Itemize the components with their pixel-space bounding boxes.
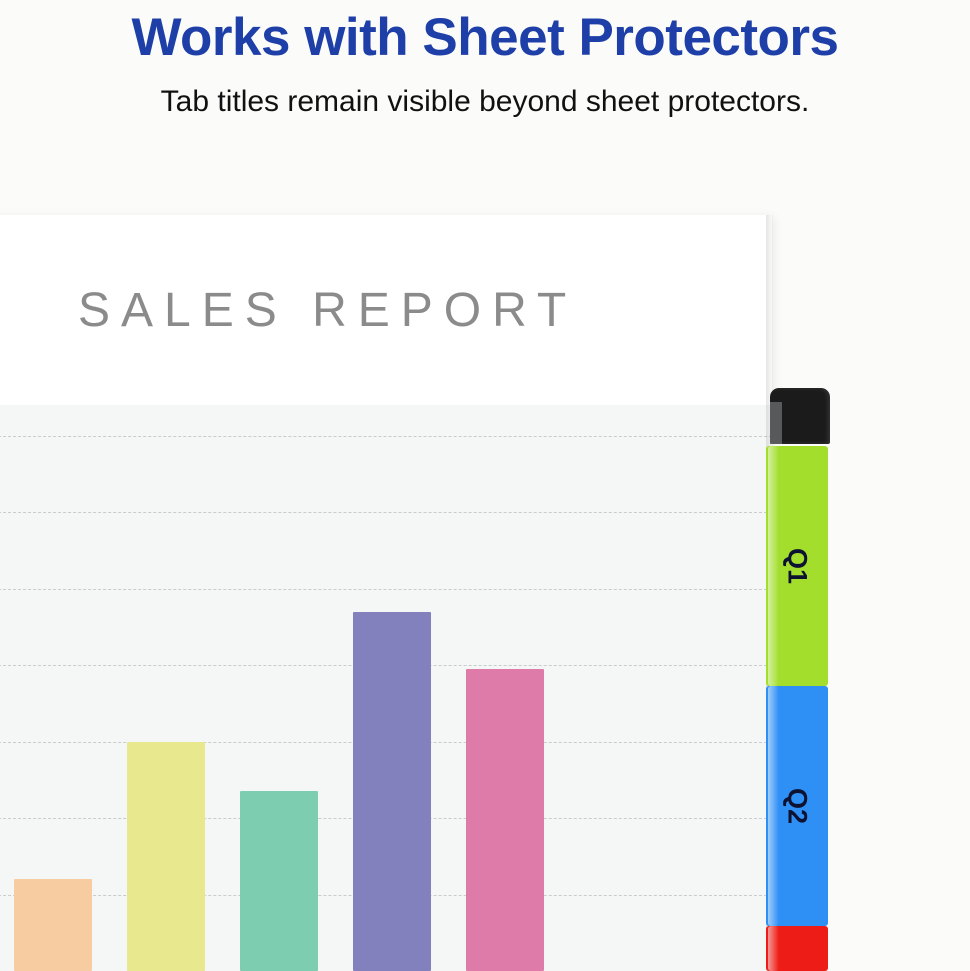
- chart-bar: [353, 612, 431, 971]
- chart-bar: [466, 669, 544, 971]
- tab-label: Q2: [782, 788, 813, 824]
- tab-label: Q1: [782, 548, 813, 584]
- tab-q2[interactable]: Q2: [766, 686, 828, 926]
- gridline: [0, 589, 772, 590]
- binder-metal-strip: [770, 402, 782, 444]
- divider-tab-stack: Q1Q2: [766, 388, 832, 971]
- gridline: [0, 512, 772, 513]
- gridline-row: 00: [0, 436, 772, 437]
- chart-bar: [240, 791, 318, 971]
- header-banner: Works with Sheet Protectors Tab titles r…: [0, 0, 970, 150]
- report-title: SALES REPORT: [78, 283, 577, 338]
- tab-gloss-highlight: [768, 686, 779, 926]
- gridline-row: 00: [0, 589, 772, 590]
- chart-bar: [127, 742, 205, 971]
- page-subtitle: Tab titles remain visible beyond sheet p…: [0, 82, 970, 122]
- tab-gloss-highlight: [768, 926, 779, 971]
- tab-q1[interactable]: Q1: [766, 446, 828, 686]
- tab-q3[interactable]: [766, 926, 828, 971]
- document-header: SALES REPORT: [0, 215, 772, 405]
- chart-bar: [14, 879, 92, 971]
- binder-edge-icon: [770, 388, 830, 444]
- page-title: Works with Sheet Protectors: [0, 5, 970, 71]
- gridline-row: 00: [0, 512, 772, 513]
- gridline: [0, 436, 772, 437]
- document-sheet: SALES REPORT 00000000000000: [0, 215, 772, 971]
- bar-chart: 00000000000000: [0, 405, 772, 971]
- tab-gloss-highlight: [768, 446, 779, 686]
